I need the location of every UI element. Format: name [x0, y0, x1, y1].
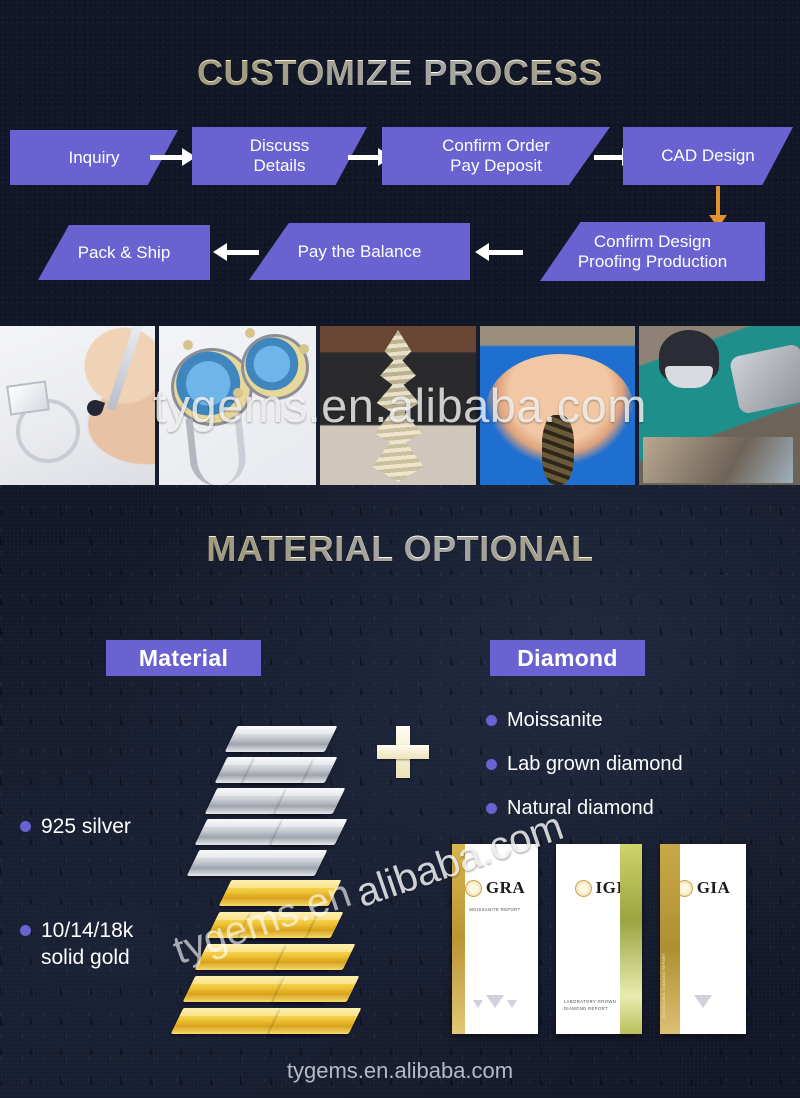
bullet-dot-icon: [486, 759, 497, 770]
cad-prong: [245, 328, 255, 338]
cert-vertical-text: GIA NATURAL DIAMOND REPORT: [662, 953, 666, 1018]
cert-seal-icon: [575, 880, 592, 897]
material-option-label: 925 silver: [41, 814, 131, 840]
arrow-shaft: [150, 155, 182, 160]
diamond-category-label: Diamond: [517, 645, 618, 672]
cert-name: GIA: [697, 878, 731, 898]
photo-cad-render: [159, 326, 316, 485]
silver-bar: [225, 726, 338, 752]
diamond-options-list: Moissanite Lab grown diamond Natural dia…: [486, 708, 786, 840]
chain-shape: [542, 415, 574, 485]
material-category-tag[interactable]: Material: [106, 640, 261, 676]
customize-process-title: CUSTOMIZE PROCESS: [0, 52, 800, 94]
list-item: Natural diamond: [486, 796, 786, 821]
list-item: Lab grown diamond: [486, 752, 786, 777]
flow-step-confirm-design-line2: Proofing Production: [578, 252, 727, 272]
cert-photo-stripe: [620, 844, 642, 1034]
cert-gem-illustration: [473, 995, 517, 1008]
arrow-shaft: [489, 250, 523, 255]
cert-subtitle: LABORATORY GROWN DIAMOND REPORT: [564, 998, 616, 1012]
cad-prong: [183, 340, 193, 350]
flow-arrow-down-icon: [709, 186, 727, 228]
list-item: 925 silver: [20, 814, 220, 840]
diamond-option-label: Natural diamond: [507, 796, 654, 821]
flow-step-confirm-order-line2: Pay Deposit: [442, 156, 550, 176]
arrow-head: [475, 243, 489, 261]
gold-bar: [275, 944, 356, 970]
gem-icon: [486, 995, 504, 1008]
cert-logo-row: GIA: [676, 878, 731, 898]
flow-arrow-5-icon: [475, 243, 523, 261]
arrow-shaft: [594, 155, 622, 160]
arrow-head: [213, 243, 227, 261]
cert-logo-row: GRA: [465, 878, 525, 898]
poster-page: CUSTOMIZE PROCESS Inquiry Discuss Detail…: [0, 0, 800, 1098]
bullet-dot-icon: [20, 821, 31, 832]
material-category-label: Material: [139, 645, 228, 672]
process-photo-strip: [0, 326, 800, 485]
flow-step-inquiry-label: Inquiry: [68, 148, 119, 168]
flow-step-pack-ship-label: Pack & Ship: [78, 243, 171, 263]
cert-logo-row: IGI: [575, 878, 624, 898]
gem-icon: [507, 1000, 517, 1008]
certificate-card-igi: IGI LABORATORY GROWN DIAMOND REPORT: [556, 844, 642, 1034]
cert-subtitle: MOISSANITE REPORT: [469, 906, 520, 913]
photo-stone-setting: [480, 326, 635, 485]
material-option-line2: solid gold: [41, 946, 130, 969]
photo-ring-sketch: [0, 326, 155, 485]
cert-gold-stripe: [452, 844, 465, 1034]
cad-ring-band: [186, 413, 249, 485]
cert-gem-illustration: [694, 995, 712, 1008]
material-option-label: 10/14/18k solid gold: [41, 918, 133, 971]
gold-bar: [239, 912, 318, 938]
cert-subtitle-line2: DIAMOND REPORT: [564, 1006, 608, 1011]
flow-step-confirm-order-line1: Confirm Order: [442, 136, 550, 156]
silver-bar: [271, 819, 348, 845]
flow-step-confirm-design-line1: Confirm Design: [578, 232, 727, 252]
pen-shape: [107, 326, 143, 411]
gold-bar: [219, 880, 342, 906]
cad-gem-view-b: [241, 334, 309, 400]
cad-prong: [299, 344, 309, 354]
workbench-shape: [643, 437, 793, 483]
arrow-shaft: [227, 250, 259, 255]
pen-tip-shape: [85, 398, 105, 418]
diamond-category-tag[interactable]: Diamond: [490, 640, 645, 676]
flow-step-discuss-line1: Discuss: [250, 136, 310, 156]
casting-tree-shape: [370, 330, 426, 482]
cert-name: GRA: [486, 878, 525, 898]
material-options-list: 925 silver 10/14/18k solid gold: [20, 814, 220, 1049]
bullet-dot-icon: [486, 803, 497, 814]
bullet-dot-icon: [486, 715, 497, 726]
footer-watermark: tygems.en.alibaba.com: [0, 1058, 800, 1084]
photo-bench-polishing: [639, 326, 800, 485]
material-optional-title: MATERIAL OPTIONAL: [0, 528, 800, 570]
worker-mask-shape: [665, 366, 713, 388]
flow-arrow-1-icon: [150, 148, 196, 166]
list-item: Moissanite: [486, 708, 786, 733]
certificate-cards: GRA MOISSANITE REPORT IGI LABORATORY GRO…: [452, 844, 752, 1034]
arrow-shaft: [348, 155, 378, 160]
flow-step-discuss-line2: Details: [250, 156, 310, 176]
cert-subtitle-line1: LABORATORY GROWN: [564, 999, 616, 1004]
plus-icon: [377, 726, 429, 778]
photo-casting-tree: [320, 326, 475, 485]
gem-icon: [694, 995, 712, 1008]
certificate-card-gia: GIA NATURAL DIAMOND REPORT GIA: [660, 844, 746, 1034]
cert-seal-icon: [465, 880, 482, 897]
silver-bar: [275, 788, 346, 814]
list-item: 10/14/18k solid gold: [20, 918, 220, 971]
flow-arrow-4-icon: [213, 243, 259, 261]
flow-step-cad-design-label: CAD Design: [661, 146, 755, 166]
flow-step-pay-balance-label: Pay the Balance: [298, 242, 422, 262]
gold-bar: [269, 1008, 362, 1034]
bullet-dot-icon: [20, 925, 31, 936]
certificate-card-gra: GRA MOISSANITE REPORT: [452, 844, 538, 1034]
silver-bars-illustration: [205, 726, 375, 876]
arrow-shaft: [716, 186, 720, 215]
material-option-line1: 10/14/18k: [41, 919, 133, 942]
tool-shape: [729, 343, 800, 415]
diamond-option-label: Moissanite: [507, 708, 603, 733]
gold-bar: [273, 976, 360, 1002]
gem-icon: [473, 1000, 483, 1008]
diamond-option-label: Lab grown diamond: [507, 752, 683, 777]
